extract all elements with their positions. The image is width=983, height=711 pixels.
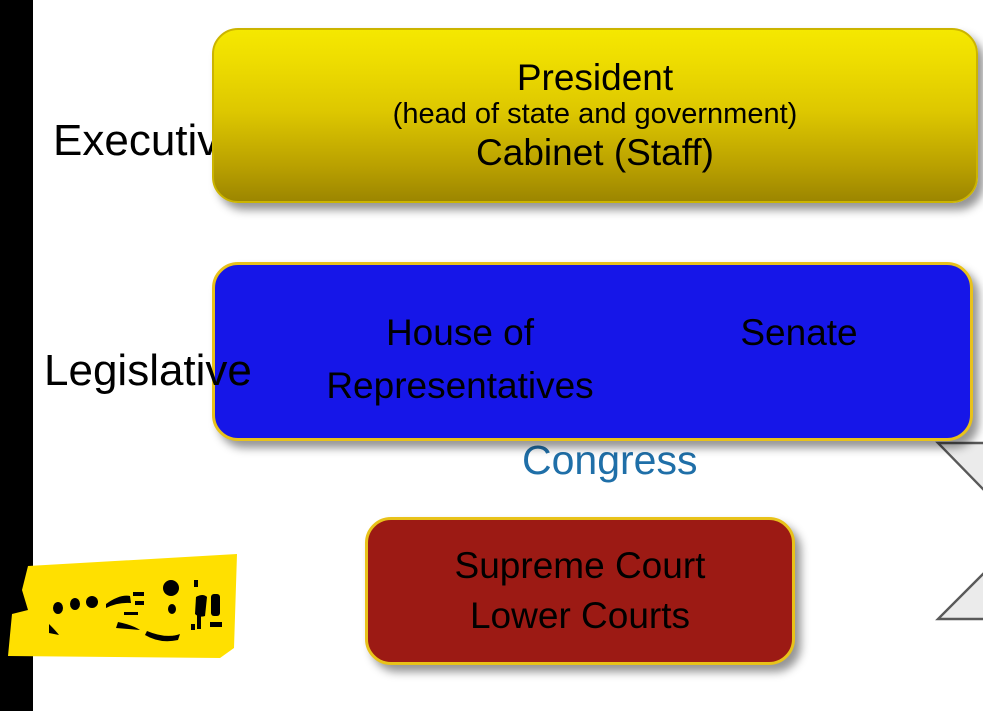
- legislative-inner: House of Representatives Senate: [215, 265, 970, 438]
- congress-caption: Congress: [522, 437, 697, 484]
- legislative-house-group: House of Representatives: [295, 307, 625, 412]
- executive-branch-box[interactable]: President (head of state and government)…: [212, 28, 978, 203]
- executive-line-cabinet: Cabinet (Staff): [476, 132, 714, 173]
- legislative-branch-box[interactable]: House of Representatives Senate: [212, 262, 973, 441]
- yellow-highlighter-note[interactable]: [6, 552, 238, 666]
- judicial-branch-box[interactable]: Supreme Court Lower Courts: [365, 517, 795, 665]
- chevron-lower-triangle: [938, 532, 983, 619]
- left-pointing-chevron-icon: [905, 440, 983, 622]
- judicial-line-supreme-court: Supreme Court: [455, 541, 706, 591]
- branch-label-legislative: Legislative: [44, 349, 252, 393]
- legislative-senate-line-1: Senate: [740, 312, 857, 353]
- judicial-line-lower-courts: Lower Courts: [470, 591, 690, 641]
- executive-line-president: President: [517, 58, 673, 98]
- executive-line-head-of-state: (head of state and government): [393, 98, 798, 130]
- slide-canvas: Executive President (head of state and g…: [0, 0, 983, 711]
- legislative-house-line-2: Representatives: [326, 365, 593, 406]
- legislative-senate-group: Senate: [649, 307, 949, 360]
- chevron-upper-triangle: [938, 443, 983, 532]
- legislative-house-line-1: House of: [386, 312, 534, 353]
